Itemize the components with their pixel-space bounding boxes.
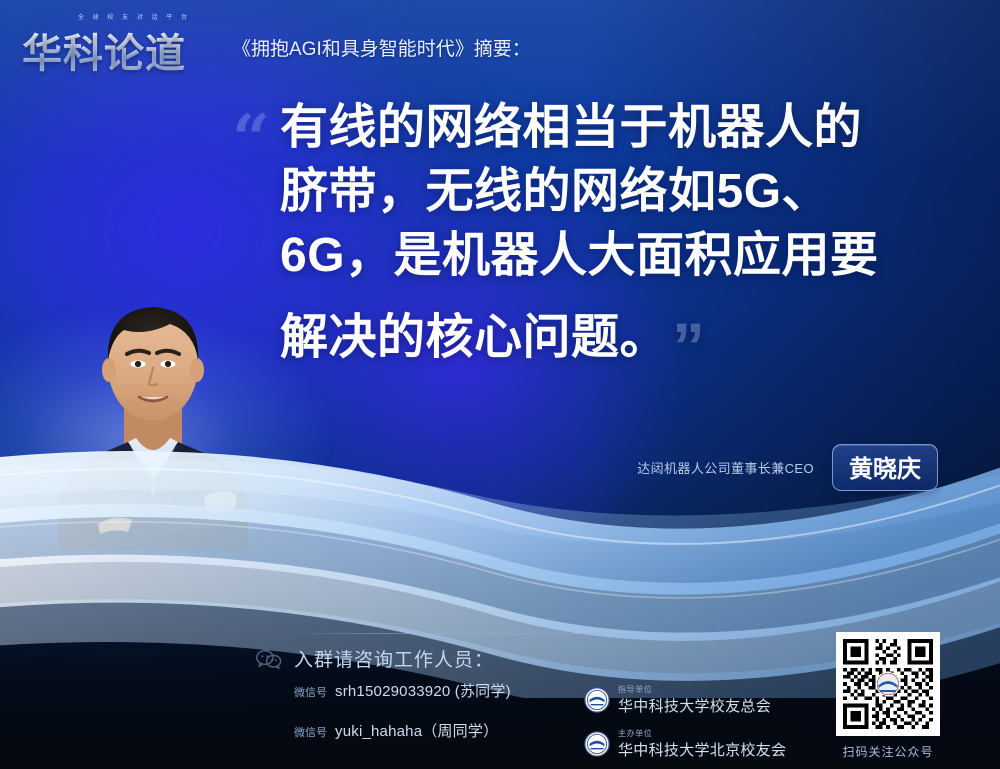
university-seal-icon bbox=[584, 687, 610, 713]
quote-lines: 有线的网络相当于机器人的 脐带，无线的网络如5G、 6G，是机器人大面积应用要 … bbox=[232, 96, 954, 375]
qr-section: 扫码关注公众号 bbox=[836, 632, 940, 760]
contact-label: 微信号 bbox=[294, 684, 327, 700]
contact-label: 微信号 bbox=[294, 724, 327, 740]
organization-name: 华中科技大学校友总会 bbox=[618, 695, 771, 716]
footer-title: 入群请咨询工作人员： bbox=[294, 645, 494, 672]
quote-line: 解决的核心问题。” bbox=[280, 287, 954, 375]
quote-close-mark: ” bbox=[672, 303, 706, 391]
university-seal-icon bbox=[584, 731, 610, 757]
quote-line-text: 解决的核心问题。 bbox=[280, 311, 668, 364]
organization-item: 指导单位 华中科技大学校友总会 bbox=[584, 684, 786, 716]
quote-line: 6G，是机器人大面积应用要 bbox=[280, 224, 954, 288]
logo-title: 华科论道 bbox=[22, 21, 186, 79]
speaker-name-badge: 黄晓庆 bbox=[832, 444, 938, 491]
contact-value[interactable]: srh15029033920 (苏同学) bbox=[335, 680, 511, 701]
qr-caption: 扫码关注公众号 bbox=[836, 743, 940, 760]
contact-list: 微信号 srh15029033920 (苏同学) 微信号 yuki_hahaha… bbox=[256, 680, 584, 769]
attribution: 达闼机器人公司董事长兼CEO 黄晓庆 bbox=[637, 444, 938, 491]
footer-divider bbox=[290, 633, 770, 634]
contact-item: 微信号 yuki_hahaha（周同学） bbox=[294, 720, 584, 741]
organization-item: 主办单位 华中科技大学北京校友会 bbox=[584, 728, 786, 760]
qr-code-image[interactable] bbox=[836, 632, 940, 736]
organization-text: 指导单位 华中科技大学校友总会 bbox=[618, 684, 771, 716]
quote-open-mark: “ bbox=[232, 106, 270, 172]
logo-tagline: 全 球 校 友 对 话 平 台 bbox=[78, 12, 190, 21]
organization-kind: 主办单位 bbox=[618, 728, 786, 739]
quote-line: 脐带，无线的网络如5G、 bbox=[280, 160, 954, 224]
quote-line: 有线的网络相当于机器人的 bbox=[280, 96, 954, 160]
header-subtitle: 《拥抱AGI和具身智能时代》摘要： bbox=[232, 34, 531, 70]
contact-value[interactable]: yuki_hahaha（周同学） bbox=[335, 720, 498, 741]
quote-block: “ 有线的网络相当于机器人的 脐带，无线的网络如5G、 6G，是机器人大面积应用… bbox=[232, 96, 954, 375]
organization-name: 华中科技大学北京校友会 bbox=[618, 739, 786, 760]
brand-logo[interactable]: 全 球 校 友 对 话 平 台 华科论道 bbox=[22, 12, 218, 70]
poster-root: 全 球 校 友 对 话 平 台 华科论道 《拥抱AGI和具身智能时代》摘要： “… bbox=[0, 0, 1000, 769]
header: 全 球 校 友 对 话 平 台 华科论道 《拥抱AGI和具身智能时代》摘要： bbox=[22, 12, 531, 70]
organization-kind: 指导单位 bbox=[618, 684, 771, 695]
contact-item: 微信号 srh15029033920 (苏同学) bbox=[294, 680, 584, 701]
wechat-icon bbox=[256, 649, 282, 669]
speaker-role: 达闼机器人公司董事长兼CEO bbox=[637, 458, 814, 477]
organization-list: 指导单位 华中科技大学校友总会 bbox=[584, 680, 786, 769]
organization-text: 主办单位 华中科技大学北京校友会 bbox=[618, 728, 786, 760]
